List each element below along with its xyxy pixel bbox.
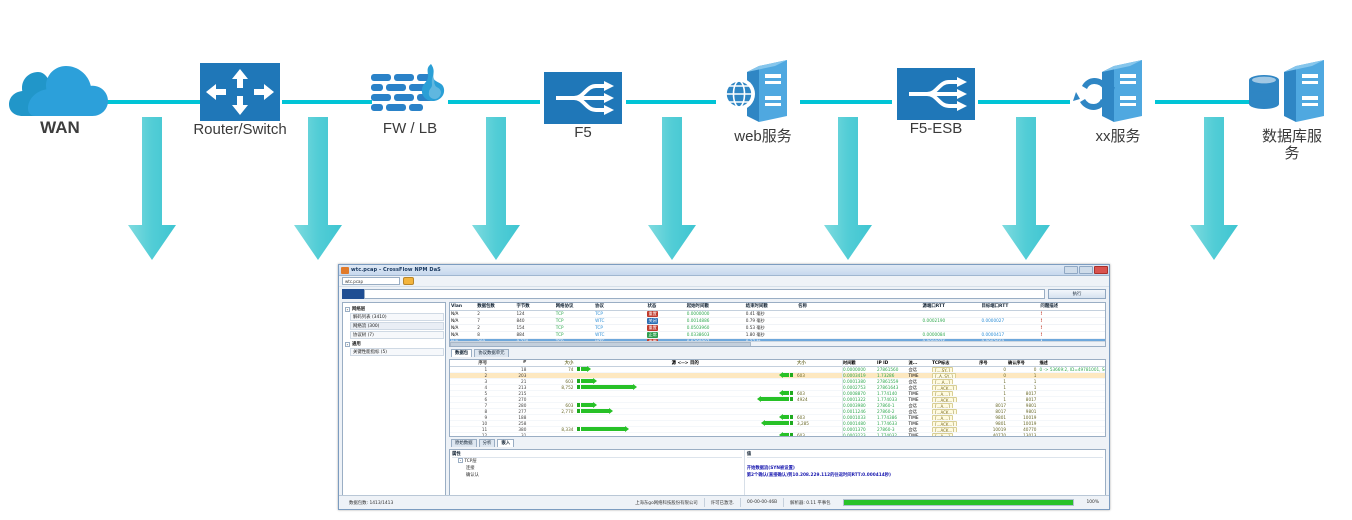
seq-no: 5 xyxy=(450,391,489,396)
app-icon xyxy=(341,267,349,274)
pkt-ack: 9801 xyxy=(1008,403,1039,408)
pkt-ipid: 1.774032 xyxy=(877,433,908,436)
packet-sequence-view[interactable]: 序号 # 大小 源 <--> 目的 大小 11874 2203 60332160… xyxy=(450,360,843,436)
packet-detail-row[interactable]: 0.00032231.774032TIME[...A....]407701301… xyxy=(843,433,1105,436)
seq-size-right: 3,285 xyxy=(795,421,842,426)
flows-cell-srtt xyxy=(922,310,981,317)
pkt-ts: 0.0000000 xyxy=(843,367,877,372)
col-desc: 描述 xyxy=(1039,360,1105,366)
pkt-flags: [...ACK...] xyxy=(932,421,979,426)
flows-cell-drtt: 0.0000417 xyxy=(980,331,1039,338)
flows-col-8[interactable]: 名称 xyxy=(797,303,921,310)
pkt-seq: 1 xyxy=(979,391,1008,396)
topology-node-label: WAN xyxy=(0,118,120,138)
pkt-seq: 9801 xyxy=(979,421,1008,426)
tree-group-general[interactable]: - 通用 xyxy=(344,340,444,348)
flows-col-7[interactable]: 结束时间戳 xyxy=(745,303,797,310)
flows-col-9[interactable]: 源端口RTT xyxy=(922,303,981,310)
topology-node-label: F5-ESB xyxy=(878,120,994,137)
window-title: wtc.pcap - CrossFlow NPM DaS xyxy=(351,267,441,273)
status-bar: 数据包数: 1413/1413 上海东go网络科技股份有限公司 许可已激活. 0… xyxy=(339,495,1109,509)
flows-col-2[interactable]: 字节数 xyxy=(515,303,554,310)
topology-node-label: F5 xyxy=(525,124,641,141)
pkt-seq: 1 xyxy=(979,385,1008,390)
pkt-flow: 会话 xyxy=(908,379,932,384)
pkt-ipid: 27860-3 xyxy=(877,427,908,432)
open-folder-icon[interactable] xyxy=(403,277,414,285)
seq-size-right: 603 xyxy=(795,415,842,420)
col-size-left: 大小 xyxy=(528,360,575,366)
pkt-flow: 会话 xyxy=(908,367,932,372)
col-flow: 流... xyxy=(908,360,932,366)
topology-node-router-switch[interactable]: Router/Switch xyxy=(180,63,300,138)
pkt-ipid: 27860-1 xyxy=(877,403,908,408)
tree-item-protocol-tree[interactable]: 协议树 (7) xyxy=(350,331,444,339)
pkt-desc xyxy=(1039,397,1105,402)
pkt-ts: 0.0003980 xyxy=(843,403,877,408)
flow-arrow-3 xyxy=(470,117,520,267)
seq-hash: 277 xyxy=(489,409,528,414)
firewall-loadbalancer-icon xyxy=(350,62,470,120)
pkt-desc: 0 -> 53669:2, ID=49781001, Seq=0/1024:74… xyxy=(1039,367,1105,372)
detail-tabstrip[interactable]: 原始数据 分析 嵌入 xyxy=(449,439,1106,447)
tab-analysis[interactable]: 分析 xyxy=(479,439,496,447)
packet-tabstrip[interactable]: 数据包 协议数据单元 xyxy=(449,349,1106,357)
tree-group-label: 网络层 xyxy=(352,306,365,312)
pkt-flow: TIME xyxy=(908,415,932,420)
flows-col-0[interactable]: Vlan xyxy=(450,303,476,310)
pkt-flags: [...A....] xyxy=(932,433,979,436)
pkt-flow: TIME xyxy=(908,397,932,402)
minimize-button[interactable] xyxy=(1064,266,1078,274)
pkt-ipid: 1.774140 xyxy=(877,391,908,396)
pkt-ack: 8017 xyxy=(1008,391,1039,396)
flows-cell-end: 0.41 毫秒 xyxy=(745,310,797,317)
pkt-flags: [..A..SY..] xyxy=(932,373,979,378)
col-tcp-flags: TCP标志 xyxy=(932,360,979,366)
pkt-flags: [....A...] xyxy=(932,379,979,384)
col-direction: 源 <--> 目的 xyxy=(575,360,795,366)
flow-arrow-6 xyxy=(1000,117,1050,267)
apply-filter-button[interactable]: 执行 xyxy=(1048,289,1106,299)
seq-hash: 213 xyxy=(489,385,528,390)
pkt-seq: 8017 xyxy=(979,403,1008,408)
table-row[interactable]: N/A8884TCPWTC正常0.03386031.80 毫秒0.0000084… xyxy=(450,331,1105,338)
pkt-ack: 8017 xyxy=(1008,397,1039,402)
pkt-seq: 9801 xyxy=(979,415,1008,420)
seq-size-right: 603 xyxy=(795,373,842,378)
seq-no: 4 xyxy=(450,385,489,390)
window-body: - 网络层 解码列表 (3410) 网络流 (300) 协议树 (7) - 通用… xyxy=(339,300,1109,496)
seq-no: 10 xyxy=(450,421,489,426)
pkt-flow: TIME xyxy=(908,391,932,396)
database-server-icon xyxy=(1232,58,1352,128)
flows-cell-state: 正常 xyxy=(646,331,685,338)
pkt-ipid: 1.774033 xyxy=(877,397,908,402)
topology-node-xx-service[interactable]: xx服务 xyxy=(1055,58,1181,145)
flows-cell-name xyxy=(797,317,921,324)
pkt-flow: 会话 xyxy=(908,427,932,432)
detail-col-name: 属性 xyxy=(452,451,742,458)
detail-root-label: TCP层 xyxy=(464,459,476,464)
pkt-desc xyxy=(1039,403,1105,408)
status-parser: 解析器: 0.11 平事包 xyxy=(784,500,836,506)
flows-cell-proto: WTC xyxy=(594,317,646,324)
tab-raw-data[interactable]: 原始数据 xyxy=(451,439,477,447)
pkt-ack: 40770 xyxy=(1008,427,1039,432)
flows-cell-issue: ! xyxy=(1039,310,1105,317)
col-payload: 时间戳 xyxy=(843,360,877,366)
pkt-ipid: 1.774386 xyxy=(877,415,908,420)
crossflow-npm-window[interactable]: wtc.pcap - CrossFlow NPM DaS wtc.pcap 执行… xyxy=(338,264,1110,510)
flows-cell-drtt xyxy=(980,310,1039,317)
pkt-ipid: 27861560 xyxy=(877,367,908,372)
expander-icon[interactable]: - xyxy=(345,307,350,312)
col-ipid: IP ID xyxy=(877,360,908,366)
flows-cell-vlan: N/A xyxy=(450,310,476,317)
detail-row-name[interactable]: 连接 xyxy=(452,465,742,472)
pkt-ack: 13013 xyxy=(1008,433,1039,436)
pkt-ts: 0.0001322 xyxy=(843,397,877,402)
flows-cell-drtt xyxy=(980,324,1039,331)
web-server-icon xyxy=(700,58,826,128)
seq-size-right: 603 xyxy=(795,433,842,436)
flows-cell-netproto: TCP xyxy=(555,331,594,338)
filter-bar[interactable]: 执行 xyxy=(339,287,1109,300)
seq-size-left: 8,334 xyxy=(528,427,575,432)
seq-no: 6 xyxy=(450,397,489,402)
pkt-seq: 40770 xyxy=(979,433,1008,436)
flows-cell-packets: 8 xyxy=(476,331,515,338)
seq-no: 3 xyxy=(450,379,489,384)
pkt-ack: 9801 xyxy=(1008,409,1039,414)
packet-list-panel[interactable]: 序号 # 大小 源 <--> 目的 大小 11874 2203 60332160… xyxy=(449,359,1106,437)
packet-detail-view[interactable]: 时间戳 IP ID 流... TCP标志 序号 确认序号 描述 0.000000… xyxy=(843,360,1105,436)
pkt-ack: 1 xyxy=(1008,379,1039,384)
flows-cell-netproto: TCP xyxy=(555,310,594,317)
flows-table-header[interactable]: Vlan数据包数字节数网络协议协议状态起始时间戳结束时间戳名称源端口RTT目标端… xyxy=(450,303,1105,310)
pkt-ipid: 1.73286 xyxy=(877,373,908,378)
seq-no: 11 xyxy=(450,427,489,432)
status-mac: 00-00-00-46B xyxy=(741,500,783,505)
flow-arrow-5 xyxy=(822,117,872,267)
pkt-flow: TIME xyxy=(908,433,932,436)
col-ack: 确认序号 xyxy=(1008,360,1039,366)
flows-cell-packets: 2 xyxy=(476,324,515,331)
flows-cell-vlan: N/A xyxy=(450,324,476,331)
status-license: 许可已激活. xyxy=(705,500,740,506)
pkt-desc xyxy=(1039,373,1105,378)
seq-hash: 18 xyxy=(489,367,528,372)
flows-cell-name xyxy=(797,331,921,338)
pkt-ipid: 27860-2 xyxy=(877,409,908,414)
flows-cell-bytes: 124 xyxy=(515,310,554,317)
flows-cell-bytes: 840 xyxy=(515,317,554,324)
topology-node-label: web服务 xyxy=(700,128,826,145)
pkt-flow: 会话 xyxy=(908,385,932,390)
pkt-ts: 0.0003419 xyxy=(843,373,877,378)
filter-input[interactable] xyxy=(364,289,1045,299)
seq-size-left: 2,770 xyxy=(528,409,575,414)
status-company: 上海东go网络科技股份有限公司 xyxy=(629,500,704,506)
seq-no: 9 xyxy=(450,415,489,420)
close-button[interactable] xyxy=(1094,266,1108,274)
expander-icon[interactable]: - xyxy=(458,458,463,463)
network-topology-diagram: WAN Router/Switch xyxy=(0,0,1352,270)
pkt-desc xyxy=(1039,409,1105,414)
pkt-seq: 0 xyxy=(979,367,1008,372)
flows-cell-srtt: 0.0002190 xyxy=(922,317,981,324)
flows-cell-issue: ! xyxy=(1039,317,1105,324)
pkt-ts: 0.0001033 xyxy=(843,415,877,420)
flows-col-3[interactable]: 网络协议 xyxy=(555,303,594,310)
f5-esb-icon xyxy=(878,68,994,120)
flows-cell-packets: 2 xyxy=(476,310,515,317)
seq-no: 12 xyxy=(450,433,489,436)
pkt-flow: 会话 xyxy=(908,403,932,408)
detail-value-column[interactable]: 值 开始数据流(SYN被设置) 第2个确认(直接确认)到10.208.229.1… xyxy=(745,450,1105,495)
pkt-flow: 会话 xyxy=(908,409,932,414)
right-pane: Vlan数据包数字节数网络协议协议状态起始时间戳结束时间戳名称源端口RTT目标端… xyxy=(449,302,1106,496)
flows-col-11[interactable]: 问题描述 xyxy=(1039,303,1105,310)
flows-cell-end: 1.80 毫秒 xyxy=(745,331,797,338)
pkt-ipid: 27861643 xyxy=(877,385,908,390)
flows-cell-netproto: TCP xyxy=(555,317,594,324)
pkt-flags: [...A....] xyxy=(932,403,979,408)
topology-node-f5[interactable]: F5 xyxy=(525,72,641,141)
pkt-ts: 0.0011246 xyxy=(843,409,877,414)
packet-sequence-row[interactable]: 1231 603 xyxy=(450,433,842,436)
flow-arrow-1 xyxy=(126,117,176,267)
pkt-flags: [....SY..] xyxy=(932,367,979,372)
tree-group-label: 通用 xyxy=(352,341,361,347)
col-hash: # xyxy=(489,360,528,366)
pkt-ack: 1 xyxy=(1008,385,1039,390)
seq-size-left: 603 xyxy=(528,403,575,408)
maximize-button[interactable] xyxy=(1079,266,1093,274)
tree-group-network[interactable]: - 网络层 xyxy=(344,305,444,313)
topology-node-database-service[interactable]: 数据库服 务 xyxy=(1232,58,1352,163)
pkt-ack: 10019 xyxy=(1008,415,1039,420)
flows-cell-start: 0.0338603 xyxy=(686,331,745,338)
flows-cell-issue: ! xyxy=(1039,324,1105,331)
seq-size-right: 4924 xyxy=(795,397,842,402)
flow-arrow-4 xyxy=(646,117,696,267)
pkt-seq: 1 xyxy=(979,397,1008,402)
detail-panel[interactable]: 属性 - TCP层 连接 确认认 值 开始数据流(SYN被设置) 第2个确认(直… xyxy=(449,449,1106,496)
seq-direction-bar xyxy=(575,432,795,436)
table-row[interactable]: N/A2154TCPTCP重置0.05039600.53 毫秒! xyxy=(450,324,1105,331)
flows-col-1[interactable]: 数据包数 xyxy=(476,303,515,310)
seq-hash: 380 xyxy=(489,427,528,432)
window-controls[interactable] xyxy=(1064,266,1108,274)
pkt-ts: 0.0001380 xyxy=(843,379,877,384)
pkt-seq: 8017 xyxy=(979,409,1008,414)
flows-cell-proto: WTC xyxy=(594,331,646,338)
pkt-seq: 10019 xyxy=(979,427,1008,432)
window-titlebar: wtc.pcap - CrossFlow NPM DaS xyxy=(339,265,1109,276)
status-packet-count: 数据包数: 1413/1413 xyxy=(343,500,399,506)
flows-col-4[interactable]: 协议 xyxy=(594,303,646,310)
table-row[interactable]: N/A2124TCPTCP重置0.00000000.41 毫秒! xyxy=(450,310,1105,317)
topology-node-label: FW / LB xyxy=(350,120,470,137)
seq-hash: 188 xyxy=(489,415,528,420)
flows-cell-state: 关闭 xyxy=(646,317,685,324)
pkt-flags: [...ACK...] xyxy=(932,385,979,390)
topology-node-f5-esb[interactable]: F5-ESB xyxy=(878,68,994,137)
pkt-desc xyxy=(1039,415,1105,420)
pkt-desc xyxy=(1039,391,1105,396)
flows-cell-srtt: 0.0000084 xyxy=(922,331,981,338)
pkt-flags: [...A....] xyxy=(932,391,979,396)
flows-cell-proto: TCP xyxy=(594,324,646,331)
flows-col-10[interactable]: 目标端口RTT xyxy=(980,303,1039,310)
pkt-ack: 10019 xyxy=(1008,421,1039,426)
tab-packets[interactable]: 数据包 xyxy=(451,349,472,357)
pkt-flags: [...ACK...] xyxy=(932,427,979,432)
seq-no: 8 xyxy=(450,409,489,414)
flows-cell-proto: TCP xyxy=(594,310,646,317)
pkt-flow: TIME xyxy=(908,421,932,426)
pkt-desc xyxy=(1039,421,1105,426)
flows-cell-drtt: 0.0000027 xyxy=(980,317,1039,324)
pkt-desc xyxy=(1039,433,1105,436)
flows-cell-bytes: 154 xyxy=(515,324,554,331)
topology-node-fw-lb[interactable]: FW / LB xyxy=(350,62,470,137)
pkt-desc xyxy=(1039,385,1105,390)
flows-table-panel[interactable]: Vlan数据包数字节数网络协议协议状态起始时间戳结束时间戳名称源端口RTT目标端… xyxy=(449,302,1106,347)
pkt-flow: TIME xyxy=(908,373,932,378)
pkt-flags: [...ACK...] xyxy=(932,409,979,414)
col-no: 序号 xyxy=(450,360,489,366)
flows-cell-vlan: N/A xyxy=(450,317,476,324)
detail-row-value: 第2个确认(直接确认)到10.208.229.112的往返时间RTT:0.000… xyxy=(747,472,1103,479)
detail-row-name[interactable]: 确认认 xyxy=(452,472,742,479)
packet-right-header: 时间戳 IP ID 流... TCP标志 序号 确认序号 描述 xyxy=(843,360,1105,367)
pkt-flags: [...A....] xyxy=(932,415,979,420)
tree-item-network-flows[interactable]: 网络流 (300) xyxy=(350,322,444,330)
pkt-flags: [...ACK...] xyxy=(932,397,979,402)
app-server-icon xyxy=(1055,58,1181,128)
detail-col-value: 值 xyxy=(747,451,1103,458)
seq-hash: 21 xyxy=(489,379,528,384)
seq-hash: 280 xyxy=(489,403,528,408)
flows-cell-srtt xyxy=(922,324,981,331)
tree-item-kpi[interactable]: 关键性能指标 (5) xyxy=(350,348,444,356)
flows-cell-start: 0.0503960 xyxy=(686,324,745,331)
pkt-seq: 1 xyxy=(979,379,1008,384)
pkt-ts: 0.0001480 xyxy=(843,421,877,426)
flows-hscrollbar[interactable] xyxy=(450,341,1105,346)
flows-col-6[interactable]: 起始时间戳 xyxy=(686,303,745,310)
flows-cell-end: 0.53 毫秒 xyxy=(745,324,797,331)
tab-pdu[interactable]: 协议数据单元 xyxy=(474,349,508,357)
topology-node-label: Router/Switch xyxy=(180,121,300,138)
tree-item-decode-list[interactable]: 解码列表 (3410) xyxy=(350,313,444,321)
pkt-desc xyxy=(1039,379,1105,384)
f5-loadbalancer-icon xyxy=(525,72,641,124)
flows-cell-state: 重置 xyxy=(646,324,685,331)
pkt-ack: 1 xyxy=(1008,373,1039,378)
seq-no: 7 xyxy=(450,403,489,408)
progress-label: 100% xyxy=(1080,500,1105,505)
filter-badge xyxy=(342,289,364,299)
tab-embedded[interactable]: 嵌入 xyxy=(497,439,514,447)
pkt-desc xyxy=(1039,427,1105,432)
detail-spacer xyxy=(747,458,1103,465)
flows-cell-vlan: N/A xyxy=(450,331,476,338)
seq-hash: 215 xyxy=(489,391,528,396)
flows-cell-end: 0.79 毫秒 xyxy=(745,317,797,324)
file-path-input[interactable]: wtc.pcap xyxy=(342,277,400,285)
topology-node-web-service[interactable]: web服务 xyxy=(700,58,826,145)
flow-arrow-8 xyxy=(1188,117,1238,267)
flows-cell-netproto: TCP xyxy=(555,324,594,331)
progress-fill xyxy=(844,500,1074,505)
pkt-ts: 0.0003223 xyxy=(843,433,877,436)
expander-icon[interactable]: - xyxy=(345,342,350,347)
flows-cell-start: 0.0014886 xyxy=(686,317,745,324)
topology-node-label: 数据库服 务 xyxy=(1232,128,1352,163)
toolbar[interactable]: wtc.pcap xyxy=(339,276,1109,287)
flows-cell-bytes: 884 xyxy=(515,331,554,338)
progress-bar xyxy=(843,499,1075,506)
flows-cell-state: 重置 xyxy=(646,310,685,317)
pkt-ts: 0.0002753 xyxy=(843,385,877,390)
seq-hash: 203 xyxy=(489,373,528,378)
seq-size-right: 603 xyxy=(795,391,842,396)
col-size-right: 大小 xyxy=(795,360,842,366)
seq-no: 2 xyxy=(450,373,489,378)
seq-size-left: 603 xyxy=(528,379,575,384)
flows-cell-packets: 7 xyxy=(476,317,515,324)
topology-node-label: xx服务 xyxy=(1055,128,1181,145)
col-seq: 序号 xyxy=(979,360,1008,366)
pkt-ipid: 1.774633 xyxy=(877,421,908,426)
flows-cell-issue: ! xyxy=(1039,331,1105,338)
pkt-ts: 0.0001370 xyxy=(843,427,877,432)
pkt-ts: 0.0008870 xyxy=(843,391,877,396)
detail-attribute-column[interactable]: 属性 - TCP层 连接 确认认 xyxy=(450,450,745,495)
flows-cell-name xyxy=(797,324,921,331)
pkt-seq: 0 xyxy=(979,373,1008,378)
flows-cell-start: 0.0000000 xyxy=(686,310,745,317)
seq-hash: 270 xyxy=(489,397,528,402)
seq-hash: 31 xyxy=(489,433,528,436)
seq-size-left: 74 xyxy=(528,367,575,372)
topology-node-wan[interactable]: WAN xyxy=(0,60,120,138)
table-row[interactable]: N/A7840TCPWTC关闭0.00148860.79 毫秒0.0002190… xyxy=(450,317,1105,324)
flows-col-5[interactable]: 状态 xyxy=(646,303,685,310)
flows-cell-name xyxy=(797,310,921,317)
router-switch-icon xyxy=(180,63,300,121)
seq-size-left: 8,752 xyxy=(528,385,575,390)
pkt-ipid: 27861559 xyxy=(877,379,908,384)
detail-row-value: 开始数据流(SYN被设置) xyxy=(747,465,1103,472)
analysis-tree[interactable]: - 网络层 解码列表 (3410) 网络流 (300) 协议树 (7) - 通用… xyxy=(342,302,446,496)
cloud-icon xyxy=(0,60,120,118)
flow-arrow-2 xyxy=(292,117,342,267)
seq-hash: 258 xyxy=(489,421,528,426)
detail-tree-root[interactable]: - TCP层 xyxy=(452,458,742,465)
pkt-ack: 0 xyxy=(1008,367,1039,372)
seq-no: 1 xyxy=(450,367,489,372)
